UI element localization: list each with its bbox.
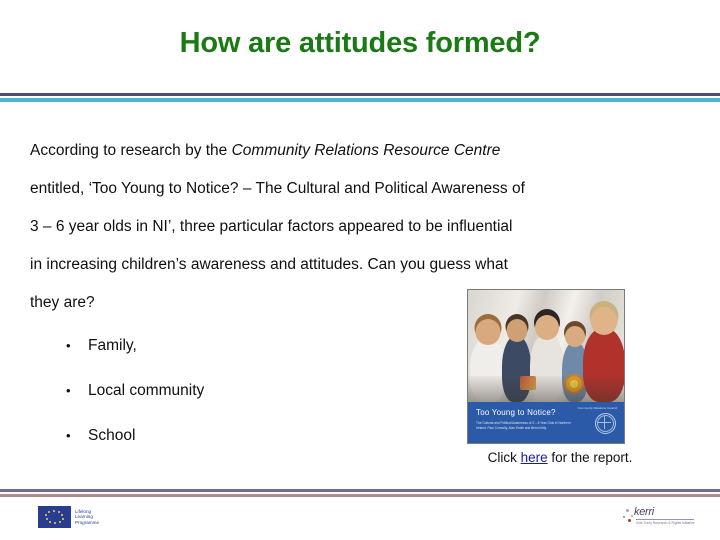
child-head-2 [506, 319, 527, 342]
report-cover-figure[interactable]: Too Young to Notice? The Cultural and Po… [467, 289, 625, 444]
report-link[interactable]: here [521, 450, 548, 465]
sparkle-icon-d [623, 516, 625, 518]
flag-prop-icon [520, 376, 536, 390]
sparkle-icon-c [628, 519, 631, 522]
community-relations-council-icon [595, 413, 616, 434]
eu-flag-icon [38, 506, 71, 528]
page-title: How are attitudes formed? [0, 28, 720, 60]
child-head-4 [565, 326, 585, 347]
body-line-1-pre: According to research by the [30, 142, 232, 159]
child-figure-5 [583, 328, 624, 402]
sparkle-icon-b [631, 515, 633, 517]
list-item: • School [66, 427, 446, 472]
caption-text-before: Click [488, 450, 521, 465]
child-figure-1 [470, 338, 506, 402]
pinwheel-icon [564, 374, 584, 394]
child-figure-3 [530, 334, 564, 402]
body-line-3: 3 – 6 year olds in NI’, three particular… [30, 208, 690, 246]
ll-line-3: Programme [75, 520, 99, 526]
slide: How are attitudes formed? According to r… [0, 0, 720, 540]
list-item: • Family, [66, 337, 446, 382]
child-head-3 [535, 315, 559, 340]
header-divider [0, 93, 720, 102]
bullet-label-family: Family, [88, 337, 446, 355]
factors-bullet-list: • Family, • Local community • School [66, 337, 446, 472]
kerri-wordmark: kerri [634, 506, 654, 518]
child-head-1 [476, 319, 501, 345]
sparkle-icon-a [626, 509, 629, 512]
header-divider-line-cyan [0, 98, 720, 102]
cover-band-title: Too Young to Notice? [476, 408, 556, 417]
cover-title-band: Too Young to Notice? The Cultural and Po… [468, 402, 624, 443]
footer-divider-line-rose [0, 494, 720, 497]
kerri-rule [636, 519, 694, 520]
body-line-2: entitled, ‘Too Young to Notice? – The Cu… [30, 170, 690, 208]
lifelong-learning-text: Lifelong Learning Programme [75, 509, 99, 526]
body-line-4: in increasing children’s awareness and a… [30, 246, 690, 284]
child-figure-2 [502, 336, 531, 402]
cover-band-subtitle: The Cultural and Political Awareness of … [476, 421, 580, 431]
bullet-dot-icon: • [66, 384, 88, 397]
list-item: • Local community [66, 382, 446, 427]
report-caption: Click here for the report. [450, 450, 670, 465]
bullet-dot-icon: • [66, 429, 88, 442]
bullet-label-school: School [88, 427, 446, 445]
cover-photo-children [468, 290, 624, 402]
body-line-1-italic: Community Relations Resource Centre [232, 142, 501, 159]
bullet-label-local-community: Local community [88, 382, 446, 400]
kerri-logo: kerri Kids’ Early Research & Rights Init… [622, 505, 698, 531]
report-cover-image[interactable]: Too Young to Notice? The Cultural and Po… [467, 289, 625, 444]
kerri-tagline: Kids’ Early Research & Rights Initiative [636, 521, 694, 525]
eu-lifelong-learning-logo: Lifelong Learning Programme [38, 506, 99, 528]
body-line-1: According to research by the Community R… [30, 132, 690, 170]
cover-band-logo-label: Community Relations Council [578, 406, 617, 410]
bullet-dot-icon: • [66, 339, 88, 352]
child-head-5 [591, 307, 618, 335]
footer-divider [0, 489, 720, 497]
caption-text-after: for the report. [548, 450, 633, 465]
